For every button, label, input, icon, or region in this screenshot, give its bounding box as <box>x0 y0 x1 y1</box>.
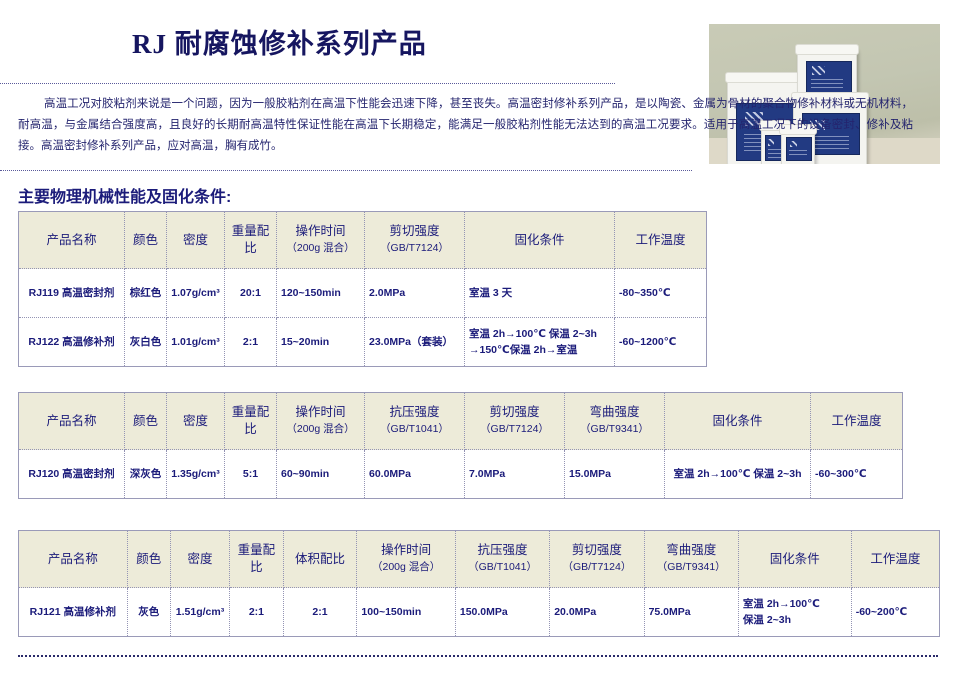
col-header-compressive-strength: 抗压强度 （GB/T1041） <box>455 531 549 588</box>
col-header-product-name: 产品名称 <box>19 212 125 269</box>
cell-work-time: 60~90min <box>277 450 365 499</box>
header-line-1: 操作时间 <box>281 223 360 240</box>
col-header-color: 颜色 <box>125 393 167 450</box>
cell-density: 1.07g/cm³ <box>167 269 225 318</box>
header-line-2: （200g 混合） <box>281 240 360 257</box>
header-line-2: （GB/T7124） <box>369 240 460 257</box>
col-header-density: 密度 <box>170 531 229 588</box>
cure-line-1: 室温 2h→100℃ 保温 2~3h <box>669 466 806 482</box>
header-line-2: （GB/T9341） <box>649 559 734 576</box>
pail-label <box>806 61 852 95</box>
spec-table-1: 产品名称 颜色 密度 重量配 比 操作时间 （200g 混合） 剪切强度 （GB… <box>18 211 707 367</box>
cure-line-2: →150℃保温 2h→室温 <box>469 342 610 358</box>
header-line-2: 比 <box>229 421 272 438</box>
cell-work-temp: -60~1200℃ <box>615 318 707 367</box>
col-header-work-temp: 工作温度 <box>615 212 707 269</box>
cell-product-name: RJ121 高温修补剂 <box>19 588 128 637</box>
header-line-2: （GB/T1041） <box>369 421 460 438</box>
cell-weight-ratio: 20:1 <box>225 269 277 318</box>
cell-work-time: 120~150min <box>277 269 365 318</box>
col-header-compressive-strength: 抗压强度 （GB/T1041） <box>365 393 465 450</box>
table-row: RJ122 高温修补剂 灰白色 1.01g/cm³ 2:1 15~20min 2… <box>19 318 707 367</box>
cell-volume-ratio: 2:1 <box>283 588 357 637</box>
col-header-volume-ratio: 体积配比 <box>283 531 357 588</box>
cell-work-temp: -60~300℃ <box>811 450 903 499</box>
page-title: RJ 耐腐蚀修补系列产品 <box>132 22 427 61</box>
header-line-1: 剪切强度 <box>554 542 639 559</box>
col-header-shear-strength: 剪切强度 （GB/T7124） <box>465 393 565 450</box>
col-header-work-time: 操作时间 （200g 混合） <box>277 393 365 450</box>
cell-color: 深灰色 <box>125 450 167 499</box>
cell-product-name: RJ119 高温密封剂 <box>19 269 125 318</box>
table-row: RJ120 高温密封剂 深灰色 1.35g/cm³ 5:1 60~90min 6… <box>19 450 903 499</box>
header-line-2: （GB/T9341） <box>569 421 660 438</box>
col-header-shear-strength: 剪切强度 （GB/T7124） <box>365 212 465 269</box>
header-line-1: 重量配 <box>229 404 272 421</box>
cell-flexural-strength: 15.0MPa <box>565 450 665 499</box>
cell-cure-conditions: 室温 3 天 <box>465 269 615 318</box>
cell-shear-strength: 20.0MPa <box>550 588 644 637</box>
col-header-weight-ratio: 重量配 比 <box>225 212 277 269</box>
col-header-cure-conditions: 固化条件 <box>738 531 851 588</box>
divider-bottom <box>18 655 938 657</box>
cell-density: 1.51g/cm³ <box>170 588 229 637</box>
cell-cure-conditions: 室温 2h→100℃ 保温 2~3h <box>665 450 811 499</box>
header-line-2: 比 <box>229 240 272 257</box>
table-header-row: 产品名称 颜色 密度 重量配 比 操作时间 （200g 混合） 剪切强度 （GB… <box>19 212 707 269</box>
cell-shear-strength: 2.0MPa <box>365 269 465 318</box>
header-line-1: 剪切强度 <box>469 404 560 421</box>
header-line-1: 重量配 <box>229 223 272 240</box>
cell-weight-ratio: 2:1 <box>230 588 283 637</box>
cell-work-temp: -60~200℃ <box>851 588 939 637</box>
col-header-weight-ratio: 重量配 比 <box>225 393 277 450</box>
page-root: RJ 耐腐蚀修补系列产品 <box>0 0 957 673</box>
header-line-2: （200g 混合） <box>361 559 450 576</box>
col-header-cure-conditions: 固化条件 <box>665 393 811 450</box>
cell-density: 1.35g/cm³ <box>167 450 225 499</box>
cell-flexural-strength: 75.0MPa <box>644 588 738 637</box>
header-line-1: 操作时间 <box>361 542 450 559</box>
col-header-density: 密度 <box>167 212 225 269</box>
col-header-weight-ratio: 重量配 比 <box>230 531 283 588</box>
cell-shear-strength: 23.0MPa（套装） <box>365 318 465 367</box>
divider-top <box>0 83 615 84</box>
header-line-1: 操作时间 <box>281 404 360 421</box>
col-header-work-time: 操作时间 （200g 混合） <box>357 531 455 588</box>
header-line-2: （GB/T1041） <box>460 559 545 576</box>
cell-weight-ratio: 5:1 <box>225 450 277 499</box>
table-row: RJ119 高温密封剂 棕红色 1.07g/cm³ 20:1 120~150mi… <box>19 269 707 318</box>
cell-compressive-strength: 150.0MPa <box>455 588 549 637</box>
table-header-row: 产品名称 颜色 密度 重量配 比 操作时间 （200g 混合） 抗压强度 （GB… <box>19 393 903 450</box>
cell-work-temp: -80~350℃ <box>615 269 707 318</box>
col-header-work-time: 操作时间 （200g 混合） <box>277 212 365 269</box>
cell-product-name: RJ122 高温修补剂 <box>19 318 125 367</box>
header-line-2: （GB/T7124） <box>554 559 639 576</box>
cell-weight-ratio: 2:1 <box>225 318 277 367</box>
pail-lid <box>795 44 859 55</box>
cell-cure-conditions: 室温 2h→100℃ 保温 2~3h <box>738 588 851 637</box>
cell-work-time: 15~20min <box>277 318 365 367</box>
cure-line-1: 室温 3 天 <box>469 285 610 301</box>
col-header-density: 密度 <box>167 393 225 450</box>
col-header-product-name: 产品名称 <box>19 531 128 588</box>
header-line-1: 剪切强度 <box>369 223 460 240</box>
cure-line-1: 室温 2h→100℃ 保温 2~3h <box>469 326 610 342</box>
table-header-row: 产品名称 颜色 密度 重量配 比 体积配比 操作时间 （200g 混合） 抗压强… <box>19 531 940 588</box>
divider-middle <box>0 170 692 171</box>
cell-compressive-strength: 60.0MPa <box>365 450 465 499</box>
header-line-1: 重量配 <box>234 542 278 559</box>
spec-table-2: 产品名称 颜色 密度 重量配 比 操作时间 （200g 混合） 抗压强度 （GB… <box>18 392 903 499</box>
cell-color: 灰白色 <box>125 318 167 367</box>
cell-shear-strength: 7.0MPa <box>465 450 565 499</box>
cell-cure-conditions: 室温 2h→100℃ 保温 2~3h →150℃保温 2h→室温 <box>465 318 615 367</box>
col-header-flexural-strength: 弯曲强度 （GB/T9341） <box>644 531 738 588</box>
cell-color: 灰色 <box>127 588 170 637</box>
col-header-shear-strength: 剪切强度 （GB/T7124） <box>550 531 644 588</box>
col-header-color: 颜色 <box>125 212 167 269</box>
header-line-2: （200g 混合） <box>281 421 360 438</box>
col-header-flexural-strength: 弯曲强度 （GB/T9341） <box>565 393 665 450</box>
cell-density: 1.01g/cm³ <box>167 318 225 367</box>
header-line-1: 弯曲强度 <box>569 404 660 421</box>
header-line-1: 抗压强度 <box>369 404 460 421</box>
cell-color: 棕红色 <box>125 269 167 318</box>
header-line-2: （GB/T7124） <box>469 421 560 438</box>
header-line-1: 弯曲强度 <box>649 542 734 559</box>
intro-paragraph: 高温工况对胶粘剂来说是一个问题，因为一般胶粘剂在高温下性能会迅速下降，甚至丧失。… <box>18 94 913 157</box>
col-header-work-temp: 工作温度 <box>851 531 939 588</box>
cure-line-2: 保温 2~3h <box>743 612 847 628</box>
col-header-color: 颜色 <box>127 531 170 588</box>
col-header-work-temp: 工作温度 <box>811 393 903 450</box>
col-header-product-name: 产品名称 <box>19 393 125 450</box>
spec-table-3: 产品名称 颜色 密度 重量配 比 体积配比 操作时间 （200g 混合） 抗压强… <box>18 530 940 637</box>
col-header-cure-conditions: 固化条件 <box>465 212 615 269</box>
section-heading: 主要物理机械性能及固化条件: <box>18 183 231 207</box>
table-row: RJ121 高温修补剂 灰色 1.51g/cm³ 2:1 2:1 100~150… <box>19 588 940 637</box>
header-line-2: 比 <box>234 559 278 576</box>
header-line-1: 抗压强度 <box>460 542 545 559</box>
cure-line-1: 室温 2h→100℃ <box>743 596 847 612</box>
cell-work-time: 100~150min <box>357 588 455 637</box>
cell-product-name: RJ120 高温密封剂 <box>19 450 125 499</box>
